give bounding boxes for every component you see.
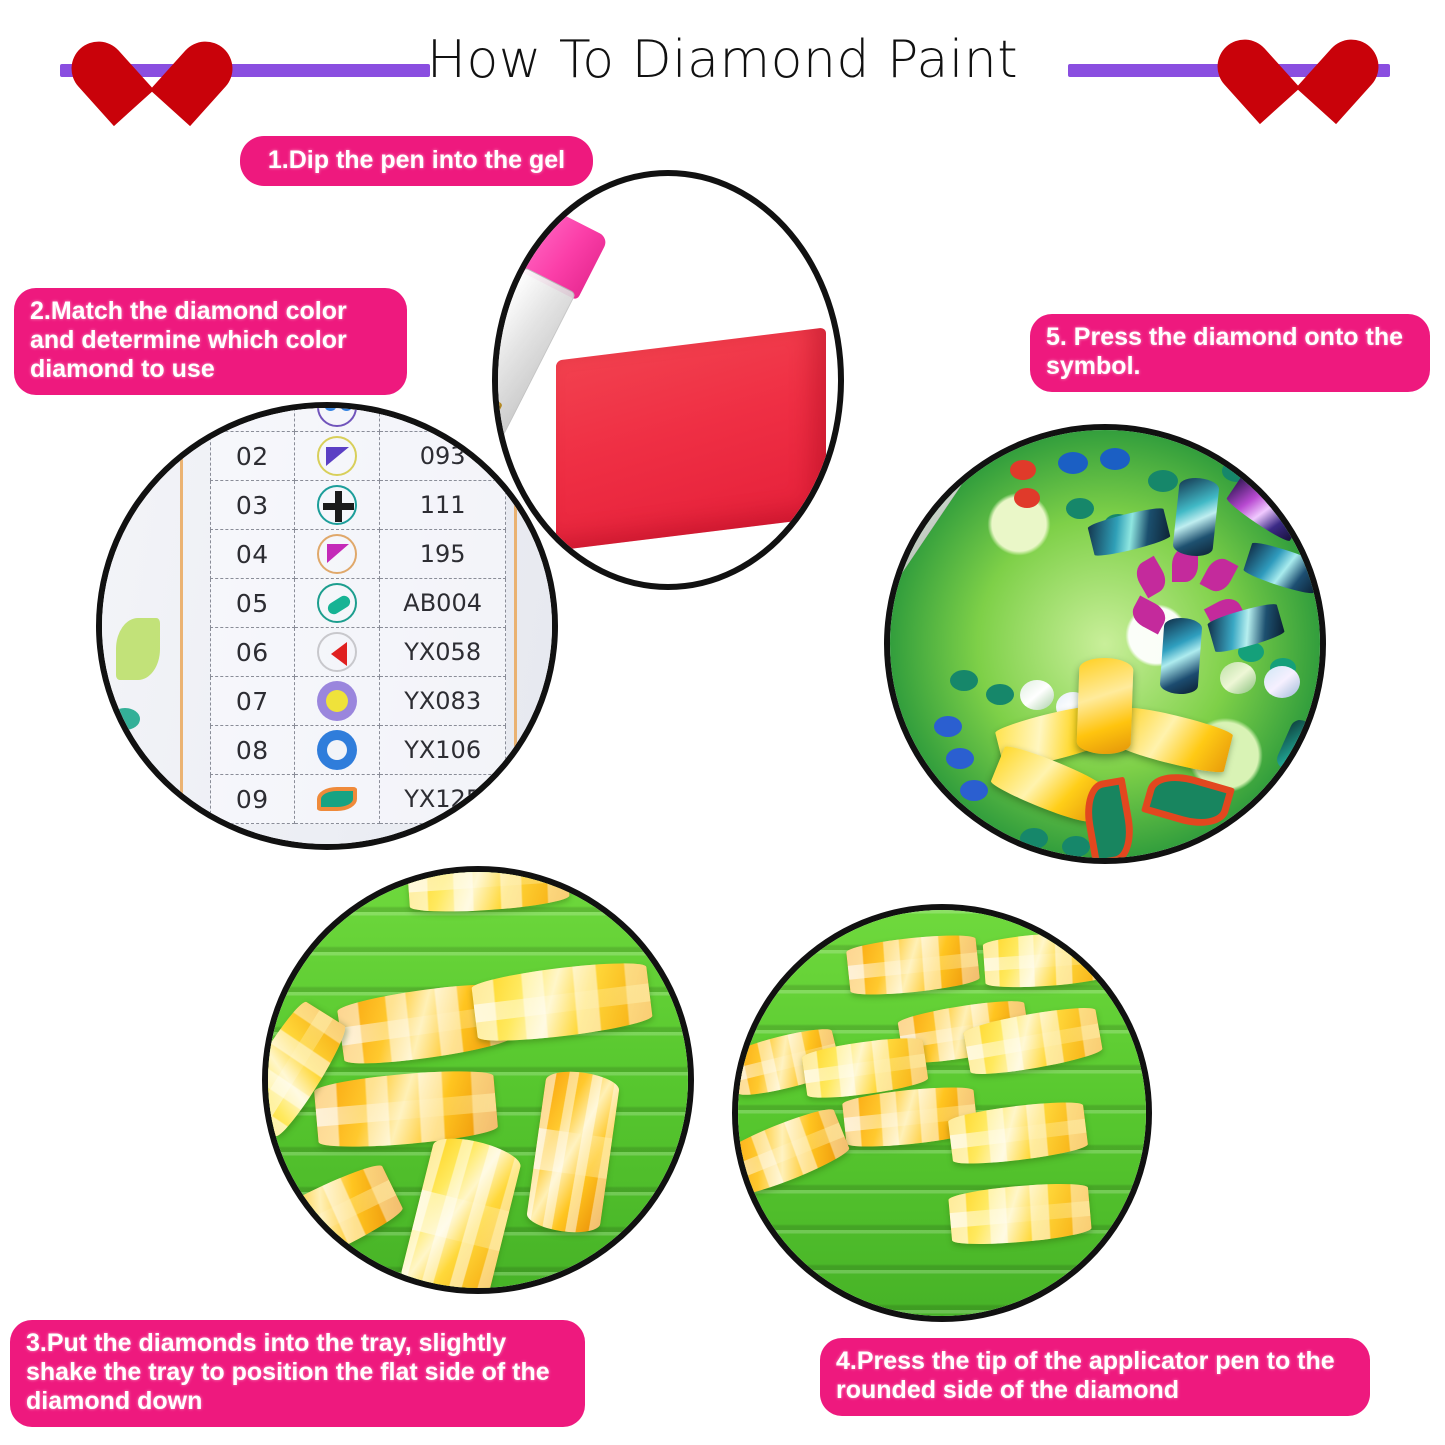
diamond — [982, 930, 1109, 991]
legend-symbol-dot-yellow-ring-icon — [294, 677, 380, 726]
pen-tip — [732, 987, 737, 1090]
printed-symbol — [1058, 452, 1088, 474]
legend-code: YX083 — [380, 677, 506, 726]
printed-symbol — [946, 748, 974, 769]
legend-symbol-capsule-teal-icon — [294, 579, 380, 628]
legend-row: 06YX058 — [211, 628, 506, 677]
legend-code: YX058 — [380, 628, 506, 677]
infographic-canvas: How To Diamond Paint 1.Dip the pen into … — [0, 0, 1445, 1445]
legend-symbol-plus-cross-icon — [294, 481, 380, 530]
legend-number — [211, 402, 295, 432]
placed-gem-dark — [1242, 539, 1324, 596]
legend-number: 04 — [211, 530, 295, 579]
symbol-legend-table: 02802093031110419505AB00406YX05807YX0830… — [210, 402, 506, 824]
printed-symbol — [950, 670, 978, 691]
step-3-photo-diamonds-in-tray — [262, 866, 694, 1294]
printed-symbol — [960, 780, 988, 801]
step-4-photo-pen-picks-diamond — [732, 904, 1152, 1322]
diamond — [732, 1103, 852, 1201]
legend-row: 04195 — [211, 530, 506, 579]
legend-row: 028 — [211, 402, 506, 432]
printed-symbol — [1100, 448, 1130, 470]
legend-number: 09 — [211, 775, 295, 824]
diamond — [398, 1131, 524, 1294]
placed-gem-clear — [1020, 680, 1054, 710]
diamond — [846, 931, 981, 998]
placed-gem-dark — [1159, 617, 1202, 695]
printed-symbol — [934, 716, 962, 737]
printed-symbol — [1010, 460, 1036, 480]
placed-gem-dark — [1274, 717, 1326, 787]
canvas-print-dot — [110, 708, 140, 730]
canvas-print-blob — [116, 618, 160, 680]
legend-code: 111 — [380, 481, 506, 530]
step-4-label: 4.Press the tip of the applicator pen to… — [820, 1338, 1370, 1416]
legend-number: 03 — [211, 481, 295, 530]
diamond — [262, 1158, 406, 1281]
printed-petal — [1200, 554, 1239, 596]
diamond — [313, 1066, 498, 1151]
legend-code: 093 — [380, 432, 506, 481]
legend-number: 06 — [211, 628, 295, 677]
legend-symbol-double-dot-blue-icon — [294, 402, 380, 432]
legend-row: 03111 — [211, 481, 506, 530]
legend-number: 02 — [211, 432, 295, 481]
pen-tip — [884, 558, 887, 648]
printed-symbol — [986, 684, 1014, 705]
printed-symbol — [1148, 470, 1178, 492]
gel-pad — [556, 327, 826, 550]
legend-code: YX125 — [380, 775, 506, 824]
active-diamond-yellow — [1076, 657, 1133, 755]
printed-symbol — [1062, 836, 1090, 857]
page-title: How To Diamond Paint — [0, 30, 1445, 90]
placed-gem-clear — [1264, 666, 1300, 698]
legend-symbol-chevron-red-icon — [294, 628, 380, 677]
legend-row: 02093 — [211, 432, 506, 481]
printed-petal — [1131, 556, 1171, 598]
canvas-paper: 02802093031110419505AB00406YX05807YX0830… — [102, 408, 552, 844]
diamond — [948, 1180, 1092, 1248]
diamond-tray — [268, 872, 688, 1288]
legend-symbol-leaf-teal-icon — [294, 775, 380, 824]
step-5-label: 5. Press the diamond onto the symbol. — [1030, 314, 1430, 392]
legend-number: 05 — [211, 579, 295, 628]
placed-gem-dark — [1224, 472, 1307, 544]
legend-code: YX106 — [380, 726, 506, 775]
legend-code: 195 — [380, 530, 506, 579]
legend-row: 09YX125 — [211, 775, 506, 824]
canvas-edge-line-left — [180, 408, 183, 844]
legend-code: 028 — [380, 402, 506, 432]
pen-body — [732, 904, 803, 1032]
legend-symbol-ring-blue-icon — [294, 726, 380, 775]
placed-gem-dark — [1172, 476, 1220, 558]
step-2-photo-symbol-legend: 02802093031110419505AB00406YX05807YX0830… — [96, 402, 558, 850]
legend-symbol-triangle-purple-icon — [294, 432, 380, 481]
placed-diamond-yellow — [1116, 703, 1234, 776]
printed-leaf — [1141, 765, 1235, 834]
step-2-label: 2.Match the diamond color and determine … — [14, 288, 407, 395]
mandala-canvas — [890, 430, 1320, 858]
pen-body — [884, 449, 966, 601]
step-5-photo-press-diamond-on-symbol — [884, 424, 1326, 864]
diamond-tray — [738, 910, 1146, 1316]
placed-gem-clear — [1220, 662, 1256, 694]
diamond — [406, 866, 570, 916]
diamond — [471, 958, 654, 1047]
diamond — [525, 1068, 621, 1237]
legend-symbol-triangle-magenta-icon — [294, 530, 380, 579]
legend-number: 08 — [211, 726, 295, 775]
legend-code: AB004 — [380, 579, 506, 628]
legend-number: 07 — [211, 677, 295, 726]
printed-symbol — [1066, 498, 1094, 519]
printed-symbol — [1020, 828, 1048, 849]
canvas-edge-line-right — [514, 408, 517, 844]
step-3-label: 3.Put the diamonds into the tray, slight… — [10, 1320, 585, 1427]
printed-symbol — [1014, 488, 1040, 508]
legend-row: 08YX106 — [211, 726, 506, 775]
placed-gem-dark — [1087, 505, 1171, 559]
legend-row: 07YX083 — [211, 677, 506, 726]
legend-row: 05AB004 — [211, 579, 506, 628]
